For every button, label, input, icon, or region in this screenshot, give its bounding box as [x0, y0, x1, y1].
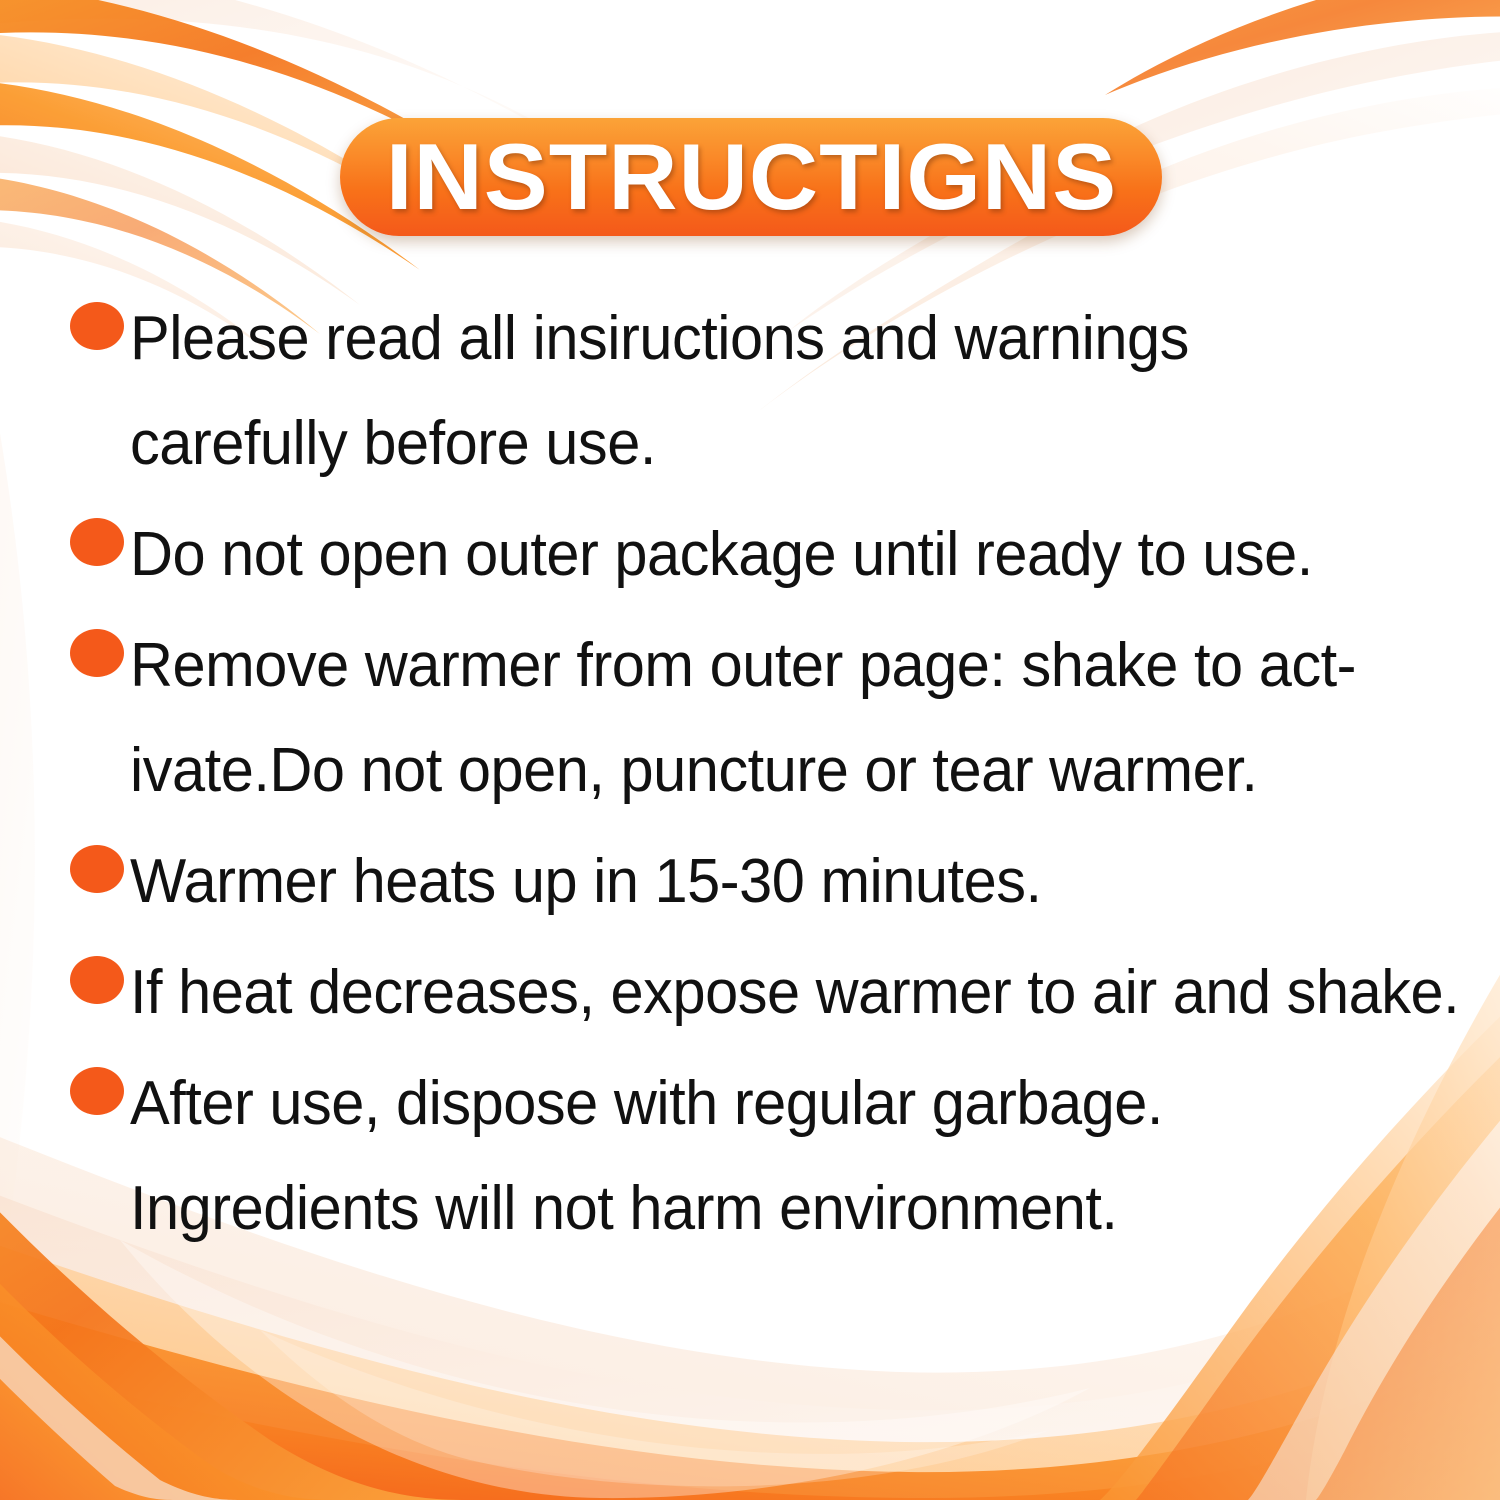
instruction-list: Please read all insiructions and warning…: [62, 286, 1472, 1267]
filled-circle-bullet-icon: [70, 1067, 124, 1115]
filled-circle-bullet-icon: [70, 518, 124, 566]
list-item-text: After use, dispose with regular garbage.…: [130, 1051, 1472, 1261]
list-item: Remove warmer from outer page: shake to …: [62, 613, 1472, 823]
list-item-line: Warmer heats up in 15-30 minutes.: [130, 829, 1418, 934]
list-item: Warmer heats up in 15-30 minutes.: [62, 829, 1472, 934]
list-item-text: Do not open outer package until ready to…: [130, 502, 1472, 607]
list-item: Do not open outer package until ready to…: [62, 502, 1472, 607]
list-item-line: carefully before use.: [130, 391, 1418, 496]
list-item-line: Do not open outer package until ready to…: [130, 502, 1418, 607]
filled-circle-bullet-icon: [70, 302, 124, 350]
list-item-line: Ingredients will not harm environment.: [130, 1156, 1418, 1261]
list-item: If heat decreases, expose warmer to air …: [62, 940, 1472, 1045]
list-item-line: After use, dispose with regular garbage.: [130, 1051, 1418, 1156]
instructions-title-badge: INSTRUCTIGNS: [340, 118, 1162, 236]
list-item-text: Warmer heats up in 15-30 minutes.: [130, 829, 1472, 934]
page-title: INSTRUCTIGNS: [385, 130, 1116, 224]
list-item-text: Please read all insiructions and warning…: [130, 286, 1472, 496]
list-item: After use, dispose with regular garbage.…: [62, 1051, 1472, 1261]
instruction-label-page: INSTRUCTIGNS Please read all insiruction…: [0, 0, 1500, 1500]
filled-circle-bullet-icon: [70, 629, 124, 677]
list-item-line: Please read all insiructions and warning…: [130, 286, 1418, 391]
list-item: Please read all insiructions and warning…: [62, 286, 1472, 496]
filled-circle-bullet-icon: [70, 956, 124, 1004]
list-item-line: ivate.Do not open, puncture or tear warm…: [130, 718, 1418, 823]
filled-circle-bullet-icon: [70, 845, 124, 893]
list-item-line: If heat decreases, expose warmer to air …: [130, 940, 1418, 1045]
list-item-line: Remove warmer from outer page: shake to …: [130, 613, 1418, 718]
list-item-text: If heat decreases, expose warmer to air …: [130, 940, 1472, 1045]
list-item-text: Remove warmer from outer page: shake to …: [130, 613, 1472, 823]
